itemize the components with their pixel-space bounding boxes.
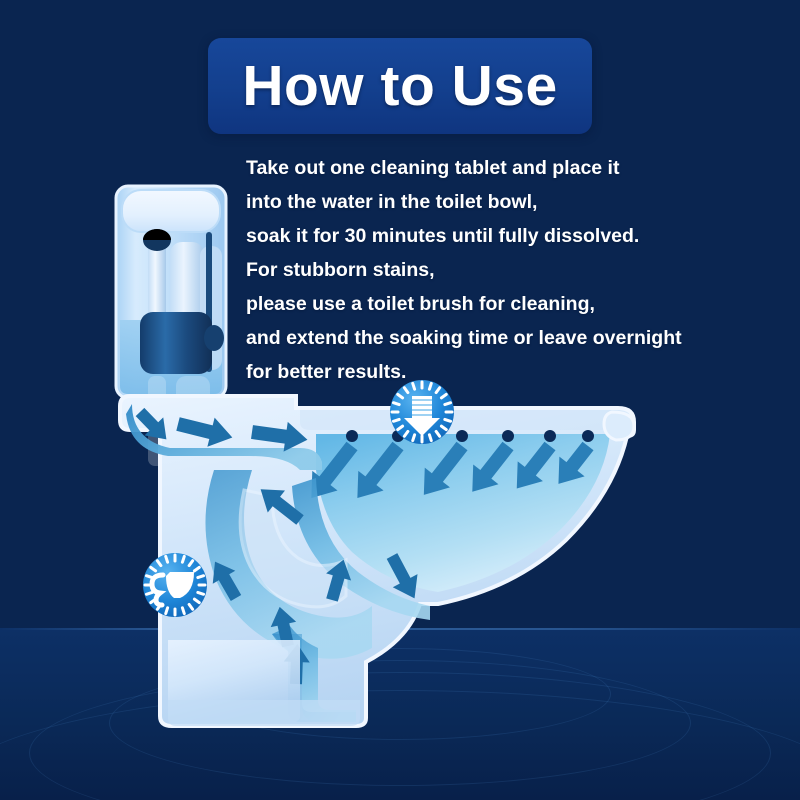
tank-lid [122,190,220,232]
instruction-line: for better results. [246,355,716,389]
title-banner: How to Use [208,38,592,134]
instruction-line: and extend the soaking time or leave ove… [246,321,716,355]
instructions-block: Take out one cleaning tablet and place i… [246,151,716,389]
infographic-canvas: How to Use Take out one cleaning tablet … [0,0,800,800]
down-arrow-badge [390,380,454,444]
instruction-line: Take out one cleaning tablet and place i… [246,151,716,185]
instruction-line: please use a toilet brush for cleaning, [246,287,716,321]
page-title: How to Use [242,58,557,115]
instruction-line: For stubborn stains, [246,253,716,287]
instruction-line: soak it for 30 minutes until fully disso… [246,219,716,253]
siphon-badge [143,553,207,617]
instruction-line: into the water in the toilet bowl, [246,185,716,219]
flush-valve-block [140,312,212,374]
bowl-rim-tip [604,412,634,440]
